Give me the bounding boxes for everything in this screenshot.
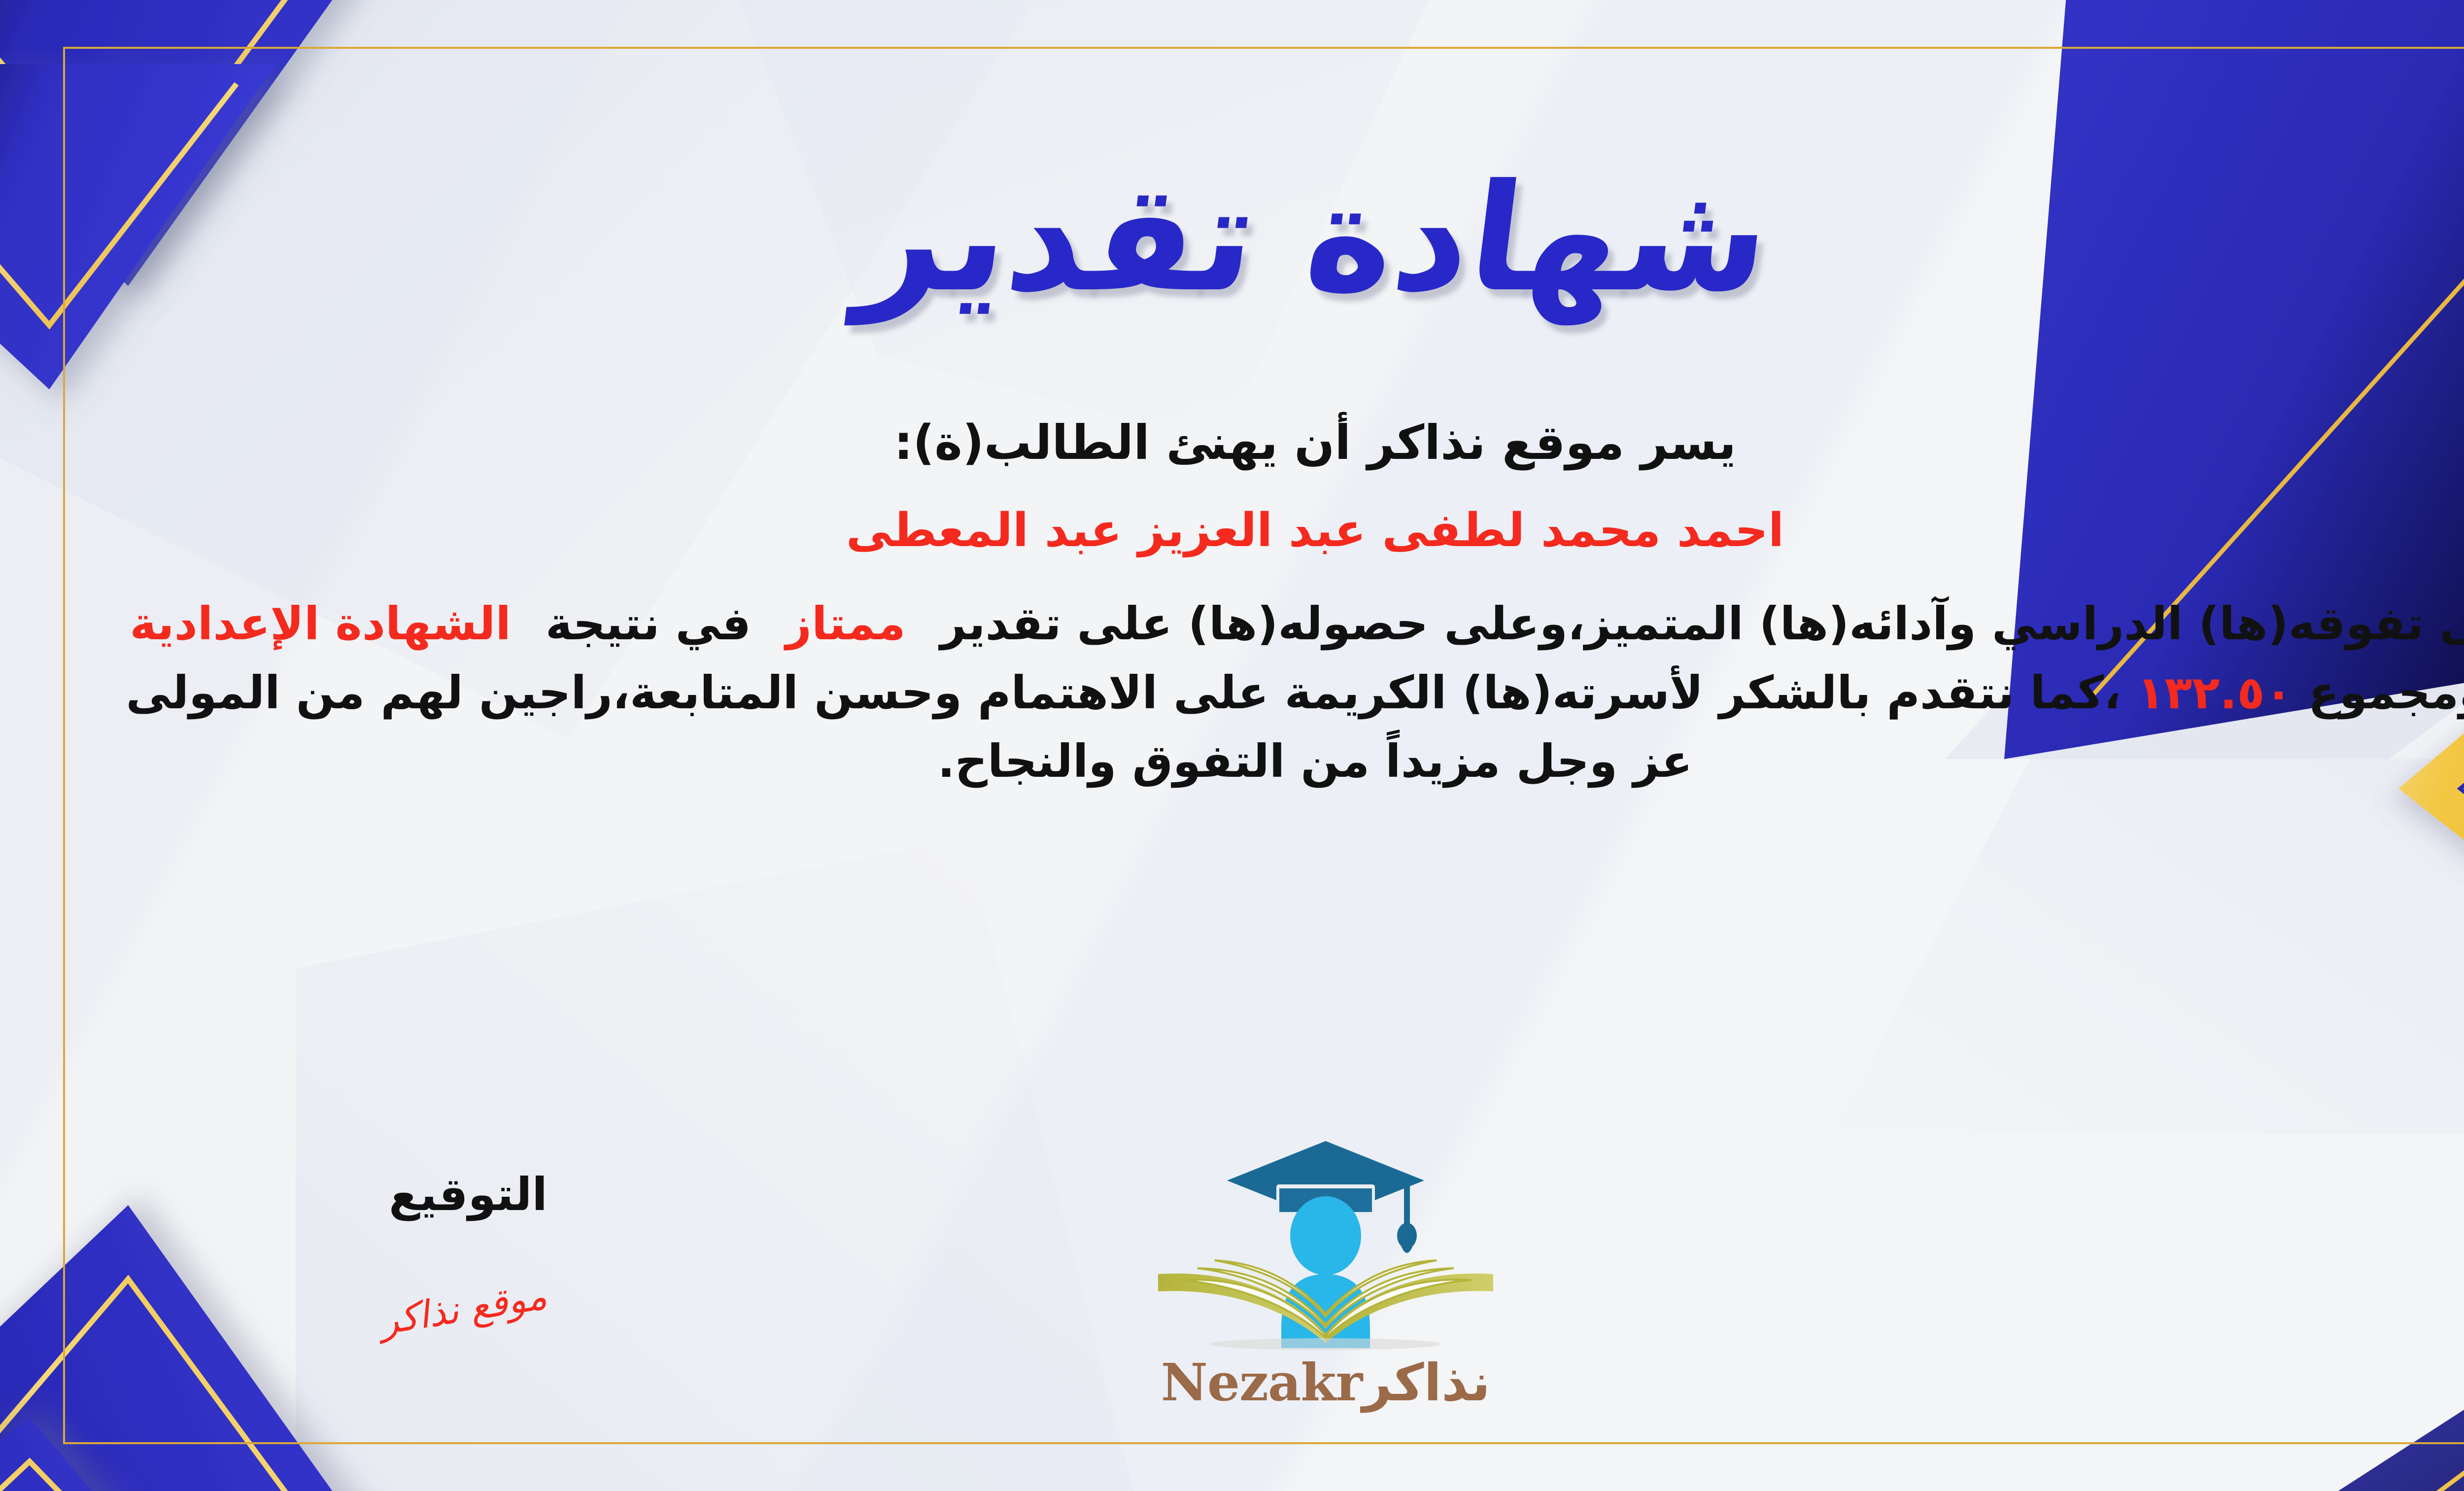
background-facet-4 — [296, 838, 1133, 1491]
signature-mark: موقع نذاكر — [304, 1262, 622, 1354]
achievement-segment-2: في نتيجة — [546, 597, 751, 650]
achievement-segment-4: ،كما نتقدم بالشكر لأسرته(ها) الكريمة على… — [126, 666, 2122, 788]
exam-name: الشهادة الإعدادية — [130, 597, 511, 650]
signature-label: التوقيع — [315, 1168, 621, 1221]
logo-arabic-text: نذاكر — [1362, 1352, 1490, 1413]
logo-wordmark: Nezakrنذاكر — [1129, 1352, 1523, 1413]
grade-value: ممتاز — [786, 597, 906, 650]
achievement-segment-1: على تفوقه(ها) الدراسي وآدائه(ها) المتميز… — [940, 597, 2464, 650]
intro-line: يسر موقع نذاكر أن يهنئ الطالب(ة): — [89, 409, 2464, 476]
student-name: احمد محمد لطفى عبد العزيز عبد المعطى — [89, 498, 2464, 563]
certificate-title: شهادة تقدير — [0, 153, 2464, 323]
nezakr-logo: Nezakrنذاكر — [1129, 1121, 1523, 1437]
certificate-canvas: شهادة تقدير يسر موقع نذاكر أن يهنئ الطال… — [0, 0, 2464, 1491]
certificate-body: يسر موقع نذاكر أن يهنئ الطالب(ة): احمد م… — [89, 409, 2464, 796]
achievement-segment-3: ،ومجموع — [2308, 666, 2464, 719]
total-score: ١٣٢.٥٠ — [2137, 666, 2293, 719]
logo-latin-text: Nezakr — [1161, 1352, 1363, 1413]
logo-graphic — [1129, 1121, 1523, 1353]
achievement-paragraph: على تفوقه(ها) الدراسي وآدائه(ها) المتميز… — [89, 589, 2464, 796]
bottom-right-blue-accent — [2098, 1195, 2464, 1491]
